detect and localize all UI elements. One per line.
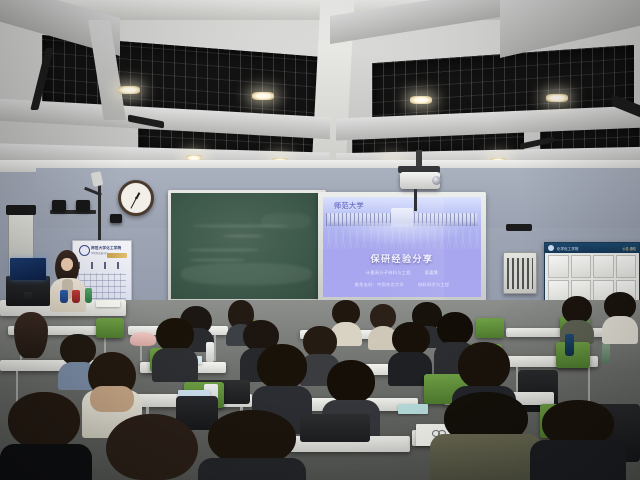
- student-hair: [106, 414, 198, 480]
- student-top: [0, 444, 92, 480]
- clock-minute-hand: [130, 198, 136, 208]
- ceiling: [0, 0, 640, 170]
- student-hair: [156, 318, 194, 352]
- student: [96, 414, 206, 480]
- student-hair: [392, 322, 430, 356]
- student: [14, 312, 48, 364]
- projector-drop-pole: [414, 189, 417, 211]
- wall-fabric-panel: [546, 168, 640, 228]
- projection-screen: 师范大学 保研经验分享 计量高分子材料与工程 栗嘉慧 推免去向：中国东北大学 材…: [318, 192, 486, 302]
- notebook: [398, 404, 428, 414]
- speaker-icon: [52, 200, 66, 211]
- wall-cabinet: [503, 252, 537, 294]
- water-bottle: [565, 334, 574, 356]
- student-scarf: [90, 386, 134, 412]
- slide-title: 保研经验分享: [323, 252, 481, 265]
- student-top: [602, 316, 638, 344]
- student-hood: [430, 434, 542, 480]
- notice-board-title: 化学化工学院: [557, 246, 579, 251]
- drink-can: [72, 290, 80, 303]
- screen-housing: [6, 205, 36, 215]
- poster-badge: [107, 253, 127, 258]
- chalk-mark: [189, 259, 245, 261]
- drink-can: [60, 290, 68, 303]
- drink-bottle: [85, 288, 92, 303]
- slide-program: 材料科学与工程: [418, 282, 449, 288]
- notice-sheet: [548, 255, 569, 278]
- student: [198, 410, 306, 480]
- lecture-hall-photo: 师范大学化工学院 学院风采展示栏 师范大学 保研经验分享 计量高分子材料: [0, 0, 640, 480]
- microphone-stand: [98, 178, 101, 248]
- student-hair: [437, 312, 473, 346]
- clock-center-pin: [135, 197, 137, 199]
- slide-presenter-name: 栗嘉慧: [425, 270, 438, 276]
- student-hair: [257, 344, 307, 390]
- student-top: [530, 440, 626, 480]
- recessed-downlight: [118, 86, 140, 94]
- slide-subtitle-row: 推免去向：中国东北大学 材料科学与工程: [323, 282, 481, 288]
- chalk-mark: [187, 249, 259, 251]
- wall-vent: [506, 224, 532, 231]
- classroom-chair: [476, 318, 504, 338]
- notice-sheet: [571, 255, 592, 278]
- chair-back: [300, 414, 370, 442]
- campus-plaza: [323, 223, 481, 249]
- student-hair: [8, 392, 80, 450]
- student: [530, 400, 626, 480]
- slide-major: 计量高分子材料与工程: [366, 270, 411, 276]
- desk-leg: [214, 335, 216, 361]
- speaker-icon: [110, 214, 122, 223]
- slide-logo-text: 师范大学: [334, 201, 364, 211]
- monitor-stand: [24, 292, 32, 302]
- chalk-smudge: [181, 263, 311, 285]
- student: [152, 318, 198, 380]
- notice-sheet: [593, 255, 614, 278]
- wall-clock: [118, 180, 154, 216]
- speaker-icon: [76, 200, 90, 211]
- student-hair: [458, 342, 510, 390]
- notice-sheet: [616, 255, 637, 278]
- student-hair: [327, 360, 375, 404]
- student-hair: [14, 312, 48, 358]
- monitor-screen: [10, 258, 46, 280]
- desk-leg: [588, 367, 590, 401]
- blackboard-surface: [171, 193, 323, 299]
- student-top: [152, 348, 198, 382]
- student-top: [198, 458, 306, 480]
- recessed-downlight: [410, 96, 432, 104]
- recessed-downlight: [252, 92, 274, 100]
- projector-lens-icon: [432, 176, 441, 185]
- classroom-chair: [96, 318, 124, 338]
- blackboard: [168, 190, 326, 302]
- notice-board-header: 化学化工学院 公告 通知: [545, 243, 639, 253]
- notice-board-tag: 公告 通知: [622, 246, 636, 251]
- presenter-face: [61, 258, 73, 271]
- recessed-downlight: [546, 94, 568, 102]
- presenter: [48, 252, 88, 310]
- student: [602, 292, 638, 342]
- water-bottle: [206, 342, 214, 362]
- student: [430, 392, 542, 480]
- poster-subtitle: 学院风采展示栏: [91, 251, 108, 255]
- student: [0, 392, 92, 480]
- chalk-mark: [223, 235, 263, 237]
- presentation-slide: 师范大学 保研经验分享 计量高分子材料与工程 栗嘉慧 推免去向：中国东北大学 材…: [323, 197, 481, 297]
- slide-subtitle-row: 计量高分子材料与工程 栗嘉慧: [323, 270, 481, 276]
- notice-board-logo-icon: [548, 245, 554, 251]
- podium-papers: [96, 300, 120, 307]
- water-bottle: [602, 344, 610, 364]
- slide-destination: 推免去向：中国东北大学: [355, 282, 404, 288]
- chalk-smudge: [261, 213, 311, 229]
